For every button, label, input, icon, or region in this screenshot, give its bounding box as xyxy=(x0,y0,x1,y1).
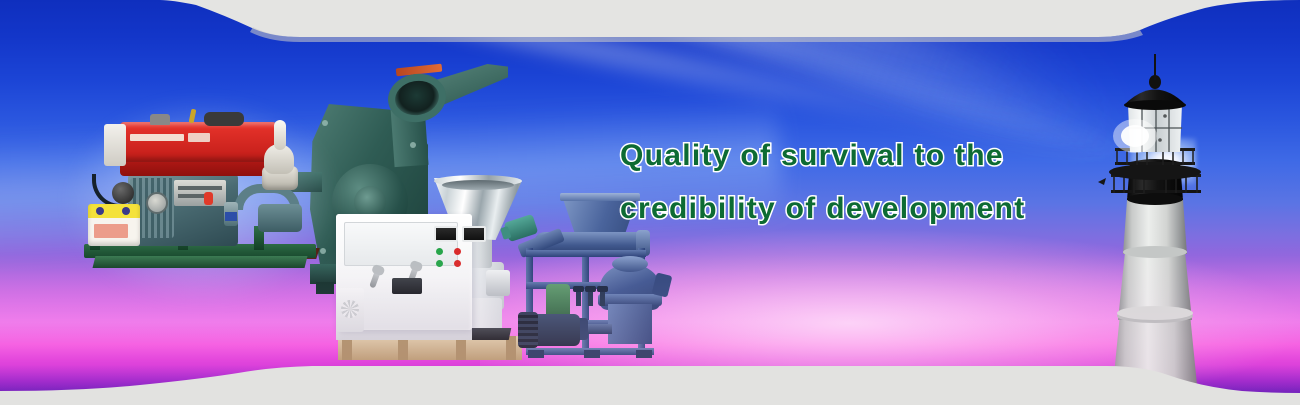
tagline-line-2: credibility of development xyxy=(620,182,1140,235)
promo-banner: Quality of survival to the credibility o… xyxy=(0,0,1300,405)
product-flat-die-pellet-mill xyxy=(330,178,536,370)
tagline: Quality of survival to the credibility o… xyxy=(620,129,1140,235)
bottom-gray-swoosh xyxy=(0,357,1300,405)
top-gray-swoosh xyxy=(0,0,1300,46)
tagline-line-1: Quality of survival to the xyxy=(620,129,1140,182)
product-diesel-engine xyxy=(78,108,328,293)
